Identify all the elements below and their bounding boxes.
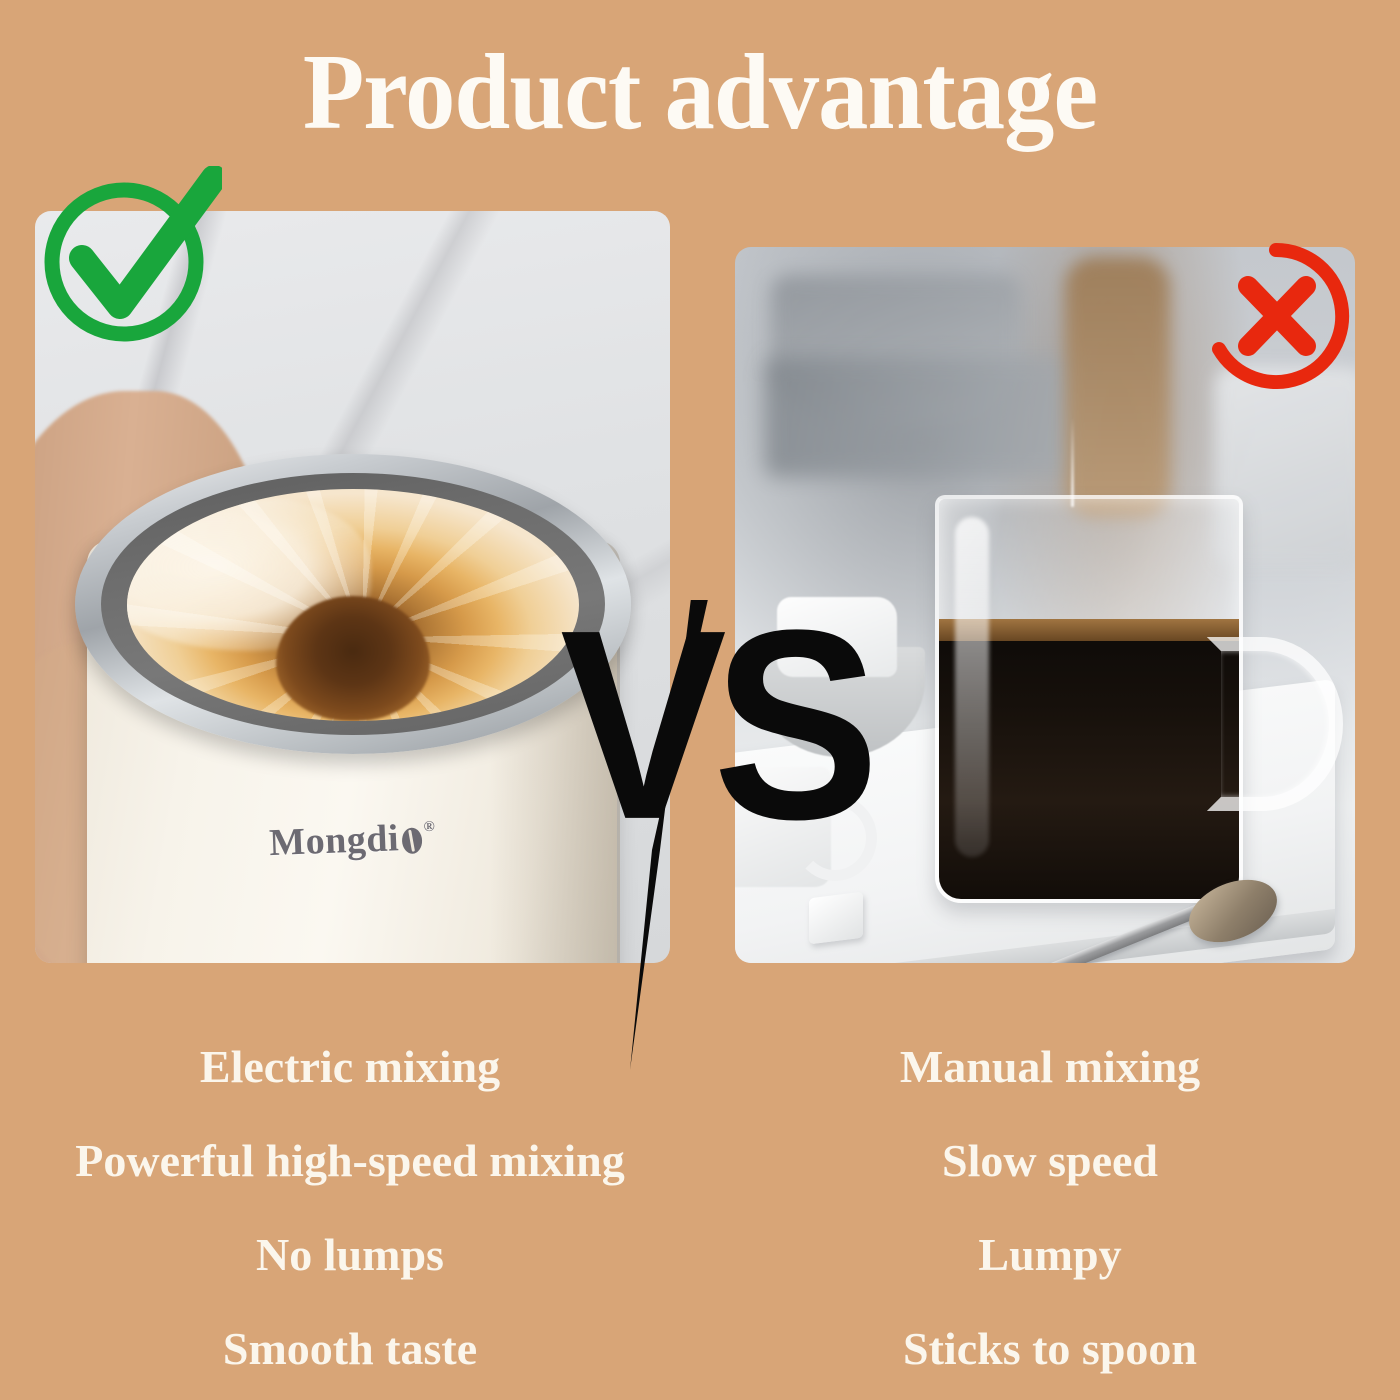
right-feature-column: Manual mixing Slow speed Lumpy Sticks to… (700, 1022, 1400, 1372)
x-circle-svg (1196, 236, 1356, 396)
glass-coffee-mug (935, 495, 1243, 903)
feature-item: Electric mixing (0, 1044, 700, 1090)
feature-item: No lumps (0, 1232, 700, 1278)
page-title: Product advantage (49, 36, 1351, 149)
check-circle-svg (38, 166, 222, 350)
coffee-vortex (276, 596, 430, 721)
background-counter-shadow (765, 357, 1095, 477)
registered-trademark-mark: ® (423, 819, 435, 835)
brand-name: Mongdi (269, 817, 400, 864)
x-circle-icon (1196, 236, 1356, 396)
versus-label: VS (560, 590, 866, 860)
mug-liquid-surface (127, 489, 579, 721)
feature-item: Manual mixing (700, 1044, 1400, 1090)
infographic-canvas: Product advantage Mongdi® (0, 0, 1400, 1400)
feature-item: Smooth taste (0, 1326, 700, 1372)
feature-item: Slow speed (700, 1138, 1400, 1184)
feature-item: Powerful high-speed mixing (0, 1138, 700, 1184)
steam-wisp (1071, 417, 1074, 507)
glass-highlight (955, 517, 989, 857)
left-feature-column: Electric mixing Powerful high-speed mixi… (0, 1022, 700, 1372)
background-wooden-grinder (1065, 257, 1170, 517)
feature-item: Lumpy (700, 1232, 1400, 1278)
feature-item: Sticks to spoon (700, 1326, 1400, 1372)
feature-comparison-columns: Electric mixing Powerful high-speed mixi… (0, 1022, 1400, 1372)
versus-divider: VS (560, 600, 860, 1070)
coffee-bean-icon (402, 827, 423, 854)
check-circle-icon (38, 166, 222, 350)
